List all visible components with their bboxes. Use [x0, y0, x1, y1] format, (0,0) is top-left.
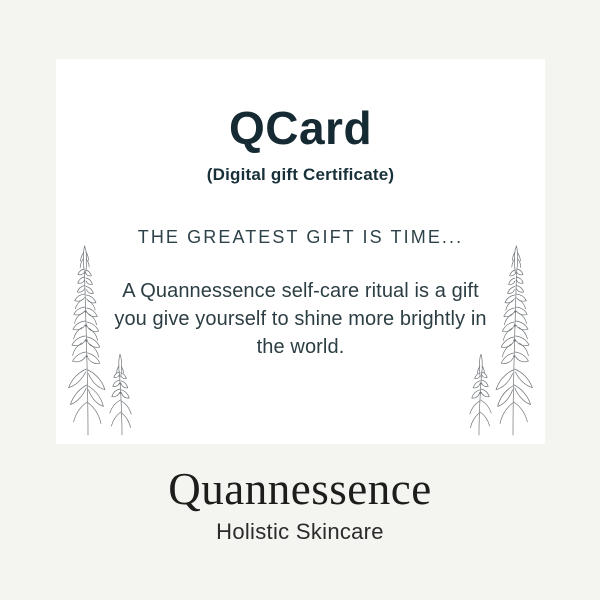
gift-card-page: QCard (Digital gift Certificate) THE GRE…	[0, 0, 600, 600]
card-tagline: THE GREATEST GIFT IS TIME...	[56, 227, 545, 248]
card-body-text: A Quannessence self-care ritual is a gif…	[56, 277, 545, 361]
card-title: QCard	[56, 105, 545, 151]
brand-name: Quannessence	[0, 466, 600, 513]
card-subtitle: (Digital gift Certificate)	[56, 165, 545, 185]
gift-card: QCard (Digital gift Certificate) THE GRE…	[56, 59, 545, 444]
brand-tagline: Holistic Skincare	[0, 519, 600, 545]
brand-block: Quannessence Holistic Skincare	[0, 466, 600, 545]
